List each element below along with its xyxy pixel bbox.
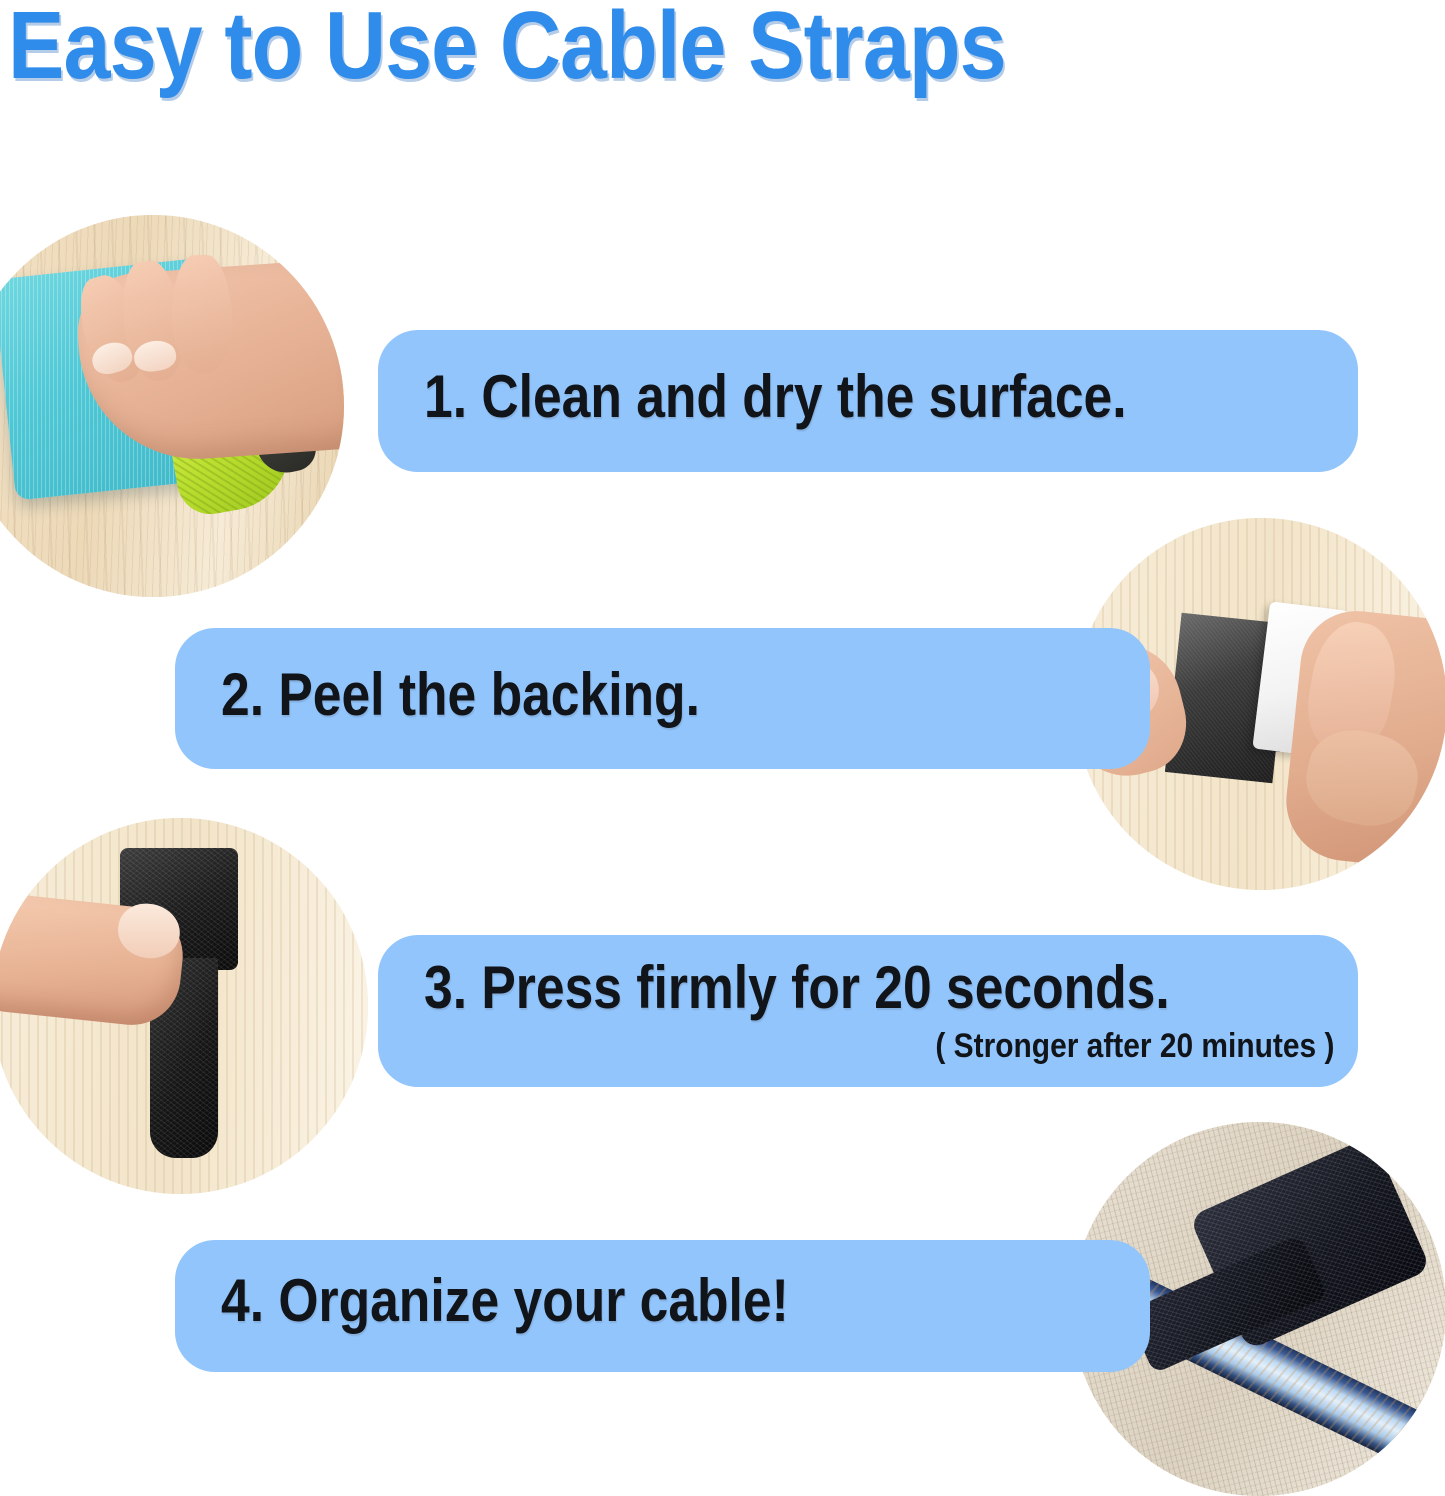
step-3-bar: 3. Press firmly for 20 seconds. ( Strong… — [378, 935, 1358, 1087]
step-2-bar: 2. Peel the backing. — [175, 628, 1150, 769]
step-2-label: 2. Peel the backing. — [221, 664, 700, 726]
photo-clean-surface-with-cloth — [0, 215, 344, 597]
step-4-bar: 4. Organize your cable! — [175, 1240, 1150, 1372]
photo-1-inner — [0, 215, 344, 597]
step-3-label: 3. Press firmly for 20 seconds. — [424, 957, 1170, 1019]
step-1-bar: 1. Clean and dry the surface. — [378, 330, 1358, 472]
step-1-label: 1. Clean and dry the surface. — [424, 366, 1127, 428]
step-4-label: 4. Organize your cable! — [221, 1270, 789, 1332]
infographic-page: Easy to Use Cable Straps 1. Clean and dr… — [0, 0, 1445, 1488]
photo-3-inner — [0, 818, 368, 1194]
step-3-note: ( Stronger after 20 minutes ) — [935, 1028, 1334, 1064]
photo-press-strap-on-wood — [0, 818, 368, 1194]
page-title: Easy to Use Cable Straps — [8, 0, 1006, 98]
